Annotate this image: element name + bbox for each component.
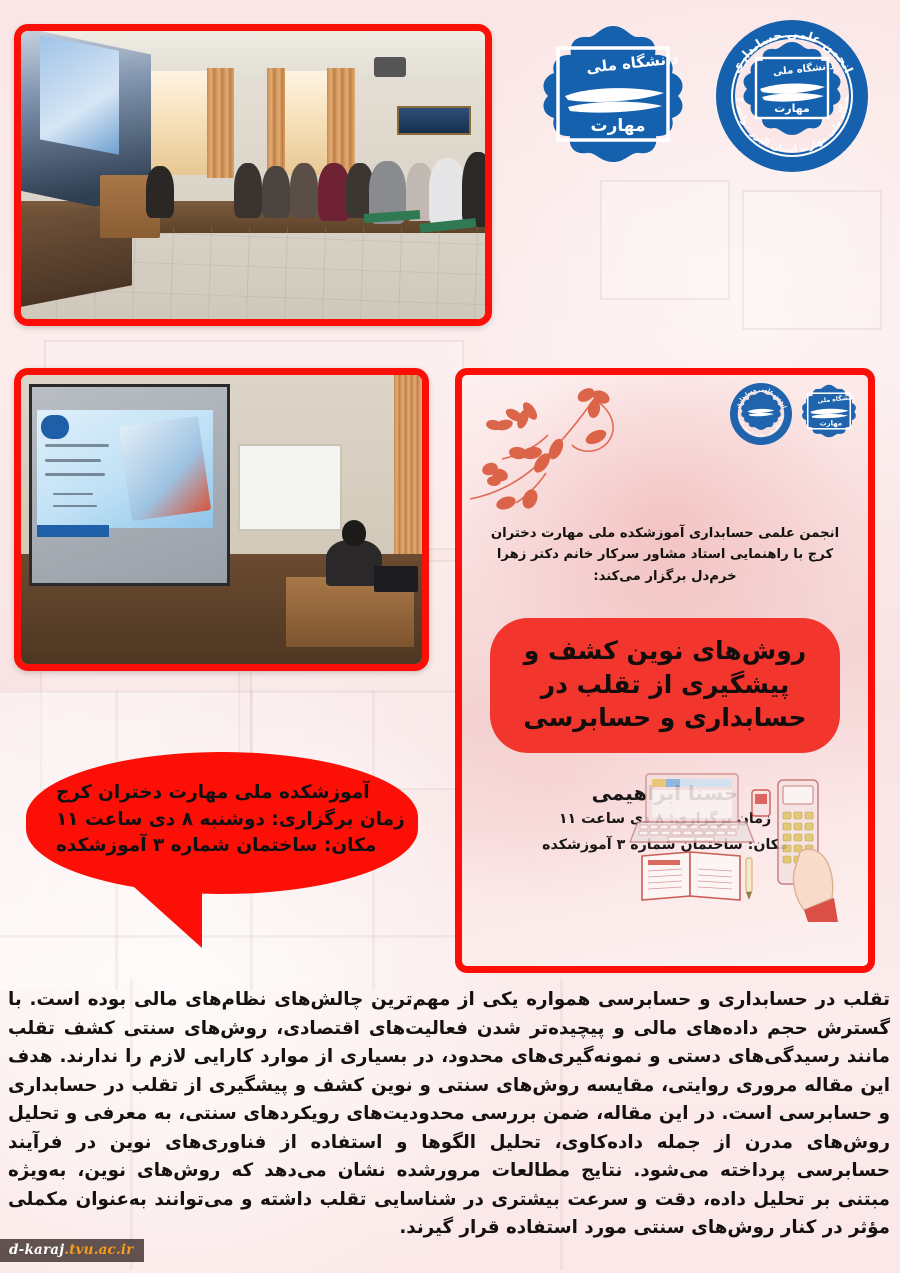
- article-body: تقلب در حسابداری و حسابرسی همواره یکی از…: [8, 986, 890, 1243]
- event-details-speech-bubble: آموزشکده ملی مهارت دختران کرج زمان برگزا…: [26, 752, 418, 894]
- texture-panel: [742, 190, 882, 330]
- bubble-line-venue: آموزشکده ملی مهارت دختران کرج: [56, 780, 370, 807]
- anjoman-elmi-hesabdari-circle-logo: دانشگاه ملی مهارت انجمن علمی حسابداری دا…: [716, 20, 868, 172]
- daneshgah-melli-maharat-shield-logo: دانشگاه ملی مهارت: [538, 24, 688, 164]
- event-poster: دانشگاه ملی مهارت انجمن علمی حسا: [455, 368, 875, 973]
- classroom-audience-photo: [14, 24, 492, 326]
- presenter-projector-photo: [14, 368, 429, 671]
- poster-intro-text: انجمن علمی حسابداری آموزشکده ملی مهارت د…: [476, 523, 854, 587]
- floral-branch-ornament: [468, 381, 648, 531]
- bubble-line-place: مکان: ساختمان شماره ۳ آموزشکده: [56, 833, 376, 860]
- watermark-secondary: .tvu.ac.ir: [64, 1242, 133, 1258]
- organization-logos: دانشگاه ملی مهارت دانشگاه ملی مهارت: [520, 16, 890, 176]
- watermark-primary: d-karaj: [9, 1242, 64, 1258]
- poster-logos: دانشگاه ملی مهارت انجمن علمی حسا: [730, 383, 858, 445]
- page-background: دانشگاه ملی مهارت دانشگاه ملی مهارت: [0, 0, 900, 1273]
- svg-text:مهارت: مهارت: [820, 420, 843, 428]
- site-url-watermark: d-karaj.tvu.ac.ir: [0, 1239, 144, 1262]
- texture-panel: [600, 180, 730, 300]
- texture-line: [0, 935, 455, 938]
- laptop-ledger-calculator-illustration: [628, 772, 838, 922]
- svg-text:مهارت: مهارت: [590, 116, 645, 136]
- svg-text:مهارت: مهارت: [774, 102, 810, 115]
- daneshgah-melli-maharat-shield-logo: دانشگاه ملی مهارت: [800, 383, 858, 439]
- anjoman-elmi-hesabdari-circle-logo: انجمن علمی حسابداری دانشگاه ملی مهارت اس…: [730, 383, 792, 445]
- texture-line: [0, 690, 455, 693]
- poster-title: روش‌های نوین کشف و پیشگیری از تقلب در حس…: [490, 618, 840, 753]
- bubble-line-time: زمان برگزاری: دوشنبه ۸ دی ساعت ۱۱: [56, 807, 405, 834]
